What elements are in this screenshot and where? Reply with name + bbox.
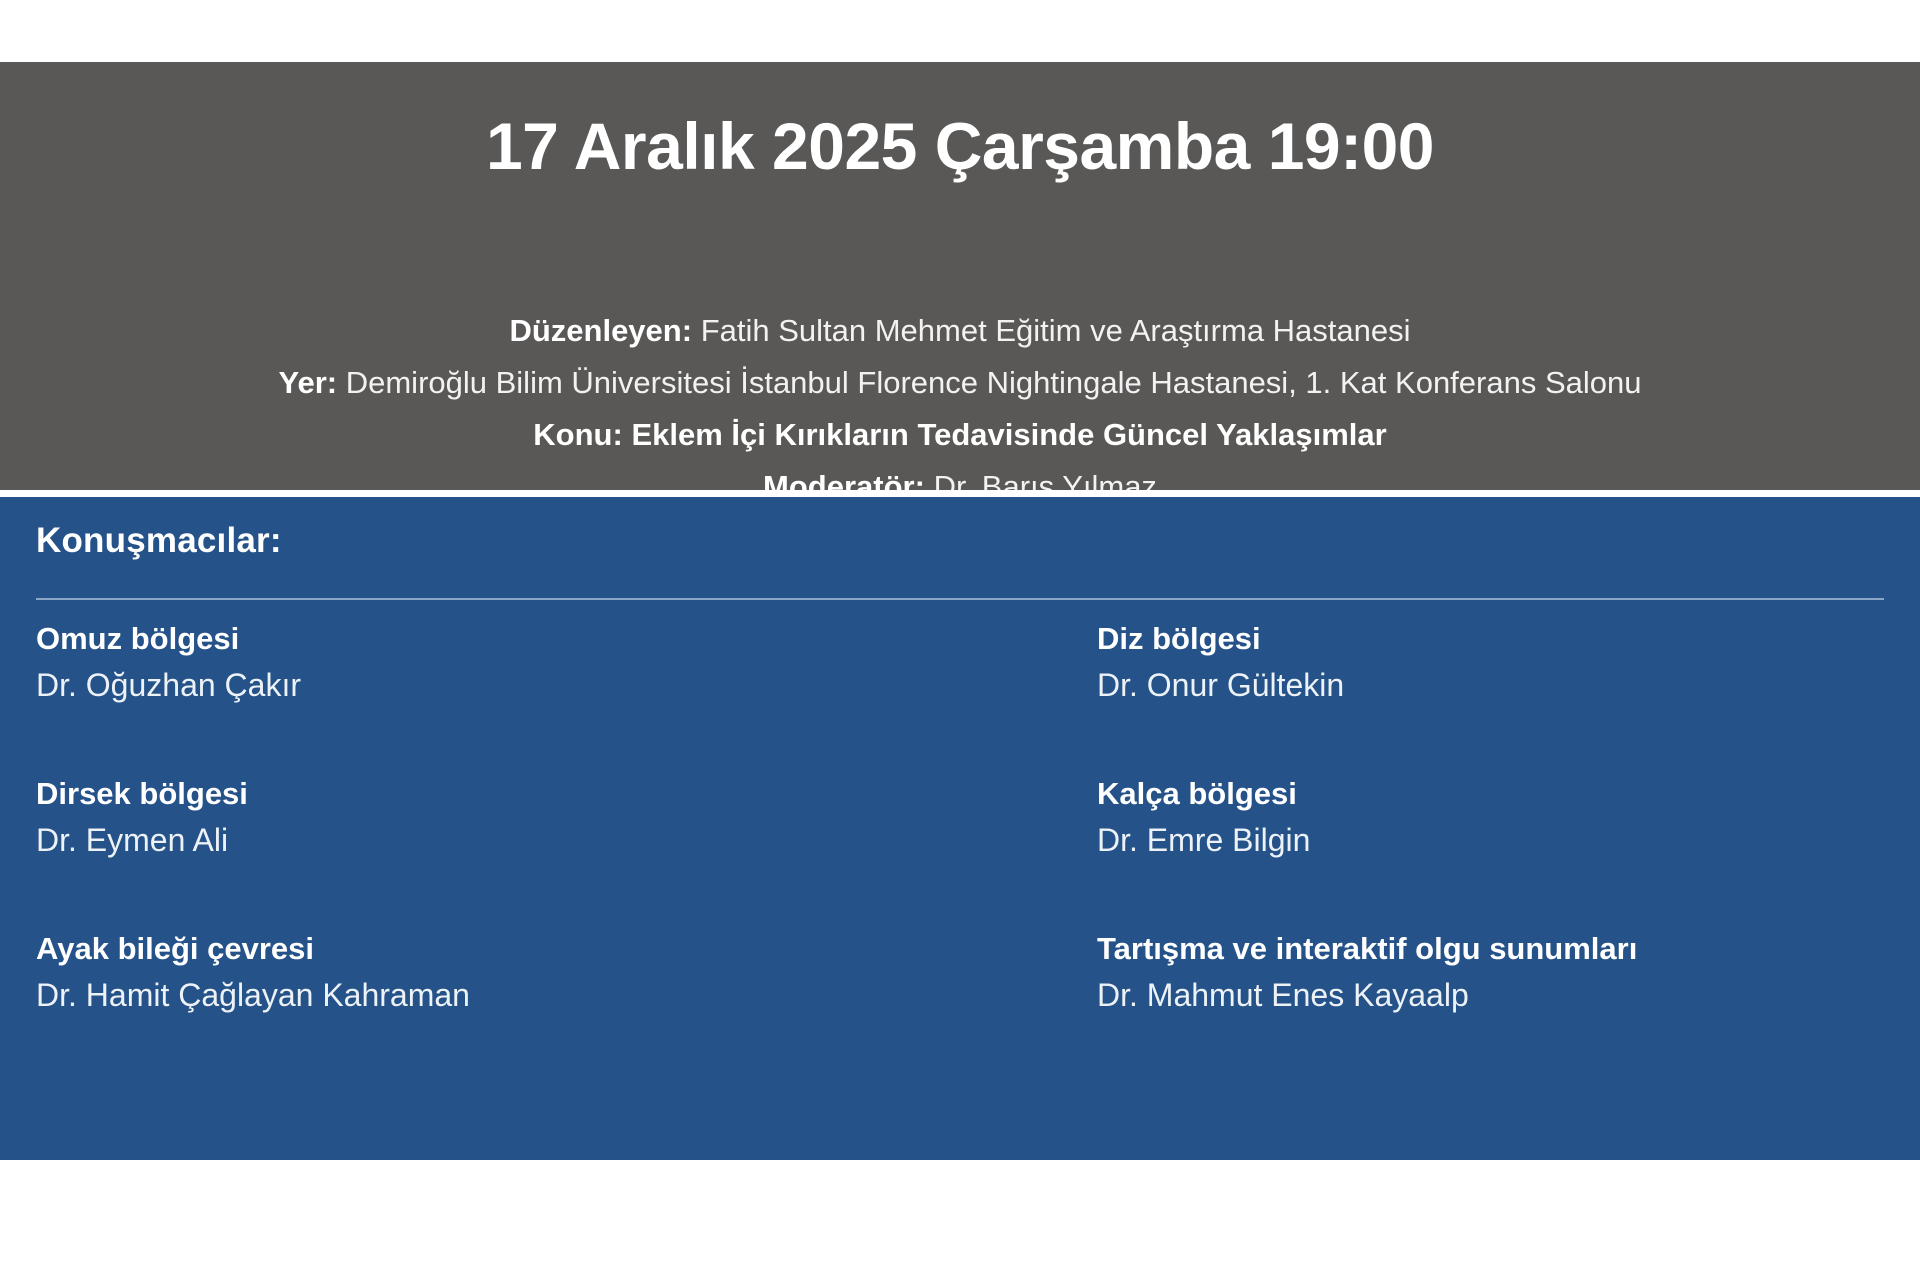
speaker-name: Dr. Mahmut Enes Kayaalp (1097, 971, 1897, 1019)
speaker-entry-elbow: Dirsek bölgesi Dr. Eymen Ali (36, 772, 856, 864)
speaker-entry-ankle: Ayak bileği çevresi Dr. Hamit Çağlayan K… (36, 927, 856, 1019)
info-value-topic: Eklem İçi Kırıkların Tedavisinde Güncel … (631, 417, 1386, 452)
speaker-name: Dr. Emre Bilgin (1097, 816, 1897, 864)
speaker-name: Dr. Onur Gültekin (1097, 661, 1897, 709)
speaker-grid: Omuz bölgesi Dr. Oğuzhan Çakır Diz bölge… (0, 617, 1920, 1082)
speaker-row: Omuz bölgesi Dr. Oğuzhan Çakır Diz bölge… (0, 617, 1920, 772)
info-line-venue: Yer: Demiroğlu Bilim Üniversitesi İstanb… (0, 357, 1920, 409)
speaker-name: Dr. Oğuzhan Çakır (36, 661, 856, 709)
speaker-topic: Diz bölgesi (1097, 617, 1897, 661)
speaker-topic: Tartışma ve interaktif olgu sunumları (1097, 927, 1897, 971)
info-value-organizer: Fatih Sultan Mehmet Eğitim ve Araştırma … (701, 313, 1411, 348)
info-line-moderator: Moderatör: Dr. Barış Yılmaz (0, 461, 1920, 490)
speaker-topic: Kalça bölgesi (1097, 772, 1897, 816)
poster-header: 17 Aralık 2025 Çarşamba 19:00 Düzenleyen… (0, 62, 1920, 490)
info-value-venue: Demiroğlu Bilim Üniversitesi İstanbul Fl… (346, 365, 1642, 400)
info-label-moderator: Moderatör: (763, 469, 925, 490)
info-label-venue: Yer: (279, 365, 338, 400)
speaker-entry-hip: Kalça bölgesi Dr. Emre Bilgin (1097, 772, 1897, 864)
speaker-row: Ayak bileği çevresi Dr. Hamit Çağlayan K… (0, 927, 1920, 1082)
event-info-list: Düzenleyen: Fatih Sultan Mehmet Eğitim v… (0, 305, 1920, 490)
speaker-row: Dirsek bölgesi Dr. Eymen Ali Kalça bölge… (0, 772, 1920, 927)
speaker-topic: Dirsek bölgesi (36, 772, 856, 816)
info-value-moderator: Dr. Barış Yılmaz (934, 469, 1157, 490)
event-poster: 17 Aralık 2025 Çarşamba 19:00 Düzenleyen… (0, 0, 1920, 1280)
speaker-entry-shoulder: Omuz bölgesi Dr. Oğuzhan Çakır (36, 617, 856, 709)
speaker-name: Dr. Hamit Çağlayan Kahraman (36, 971, 856, 1019)
speaker-entry-knee: Diz bölgesi Dr. Onur Gültekin (1097, 617, 1897, 709)
event-title: 17 Aralık 2025 Çarşamba 19:00 (0, 112, 1920, 181)
info-label-topic: Konu: (533, 417, 623, 452)
section-divider (36, 598, 1884, 600)
speaker-name: Dr. Eymen Ali (36, 816, 856, 864)
speakers-heading: Konuşmacılar: (36, 521, 282, 561)
info-line-organizer: Düzenleyen: Fatih Sultan Mehmet Eğitim v… (0, 305, 1920, 357)
info-label-organizer: Düzenleyen: (509, 313, 692, 348)
speaker-topic: Ayak bileği çevresi (36, 927, 856, 971)
speaker-entry-discussion: Tartışma ve interaktif olgu sunumları Dr… (1097, 927, 1897, 1019)
info-line-topic: Konu: Eklem İçi Kırıkların Tedavisinde G… (0, 409, 1920, 461)
poster-speakers-section: Konuşmacılar: Omuz bölgesi Dr. Oğuzhan Ç… (0, 497, 1920, 1160)
speaker-topic: Omuz bölgesi (36, 617, 856, 661)
